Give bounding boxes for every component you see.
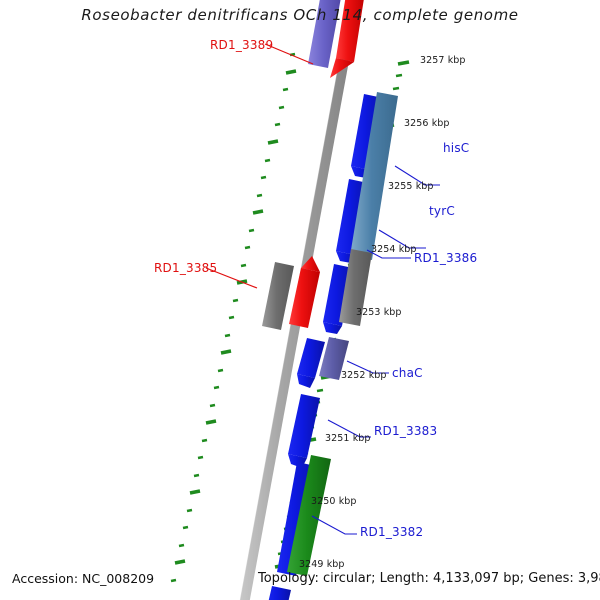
gene-label-chaC[interactable]: chaC	[392, 366, 423, 380]
genome-summary-text: Topology: circular; Length: 4,133,097 bp…	[258, 571, 600, 586]
genome-map-figure: Roseobacter denitrificans OCh 114, compl…	[0, 0, 600, 600]
tick-label-3254: 3254 kbp	[371, 244, 417, 255]
feature-gray-3385[interactable]	[262, 262, 294, 330]
genome-map-canvas	[0, 0, 600, 600]
tick-label-3251: 3251 kbp	[325, 433, 371, 444]
gene-label-RD1_3383[interactable]: RD1_3383	[374, 424, 437, 438]
tick-label-3250: 3250 kbp	[311, 496, 357, 507]
feature-blue-3384[interactable]	[297, 338, 325, 388]
tick-label-3255: 3255 kbp	[388, 181, 434, 192]
gene-feature-track-inner	[262, 0, 383, 600]
gene-label-hisC[interactable]: hisC	[443, 141, 469, 155]
figure-title: Roseobacter denitrificans OCh 114, compl…	[0, 6, 600, 24]
tick-label-3257: 3257 kbp	[420, 55, 466, 66]
gene-label-RD1_3389[interactable]: RD1_3389	[210, 38, 273, 52]
gene-label-RD1_3386[interactable]: RD1_3386	[414, 251, 477, 265]
tick-label-3252: 3252 kbp	[341, 370, 387, 381]
tick-label-3249: 3249 kbp	[299, 559, 345, 570]
gene-label-RD1_3385[interactable]: RD1_3385	[154, 261, 217, 275]
tick-label-3256: 3256 kbp	[404, 118, 450, 129]
accession-text: Accession: NC_008209	[12, 571, 154, 586]
gene-label-tyrC[interactable]: tyrC	[429, 204, 455, 218]
feature-blue-bottom[interactable]	[266, 586, 291, 600]
gene-label-RD1_3382[interactable]: RD1_3382	[360, 525, 423, 539]
tick-label-3253: 3253 kbp	[356, 307, 402, 318]
